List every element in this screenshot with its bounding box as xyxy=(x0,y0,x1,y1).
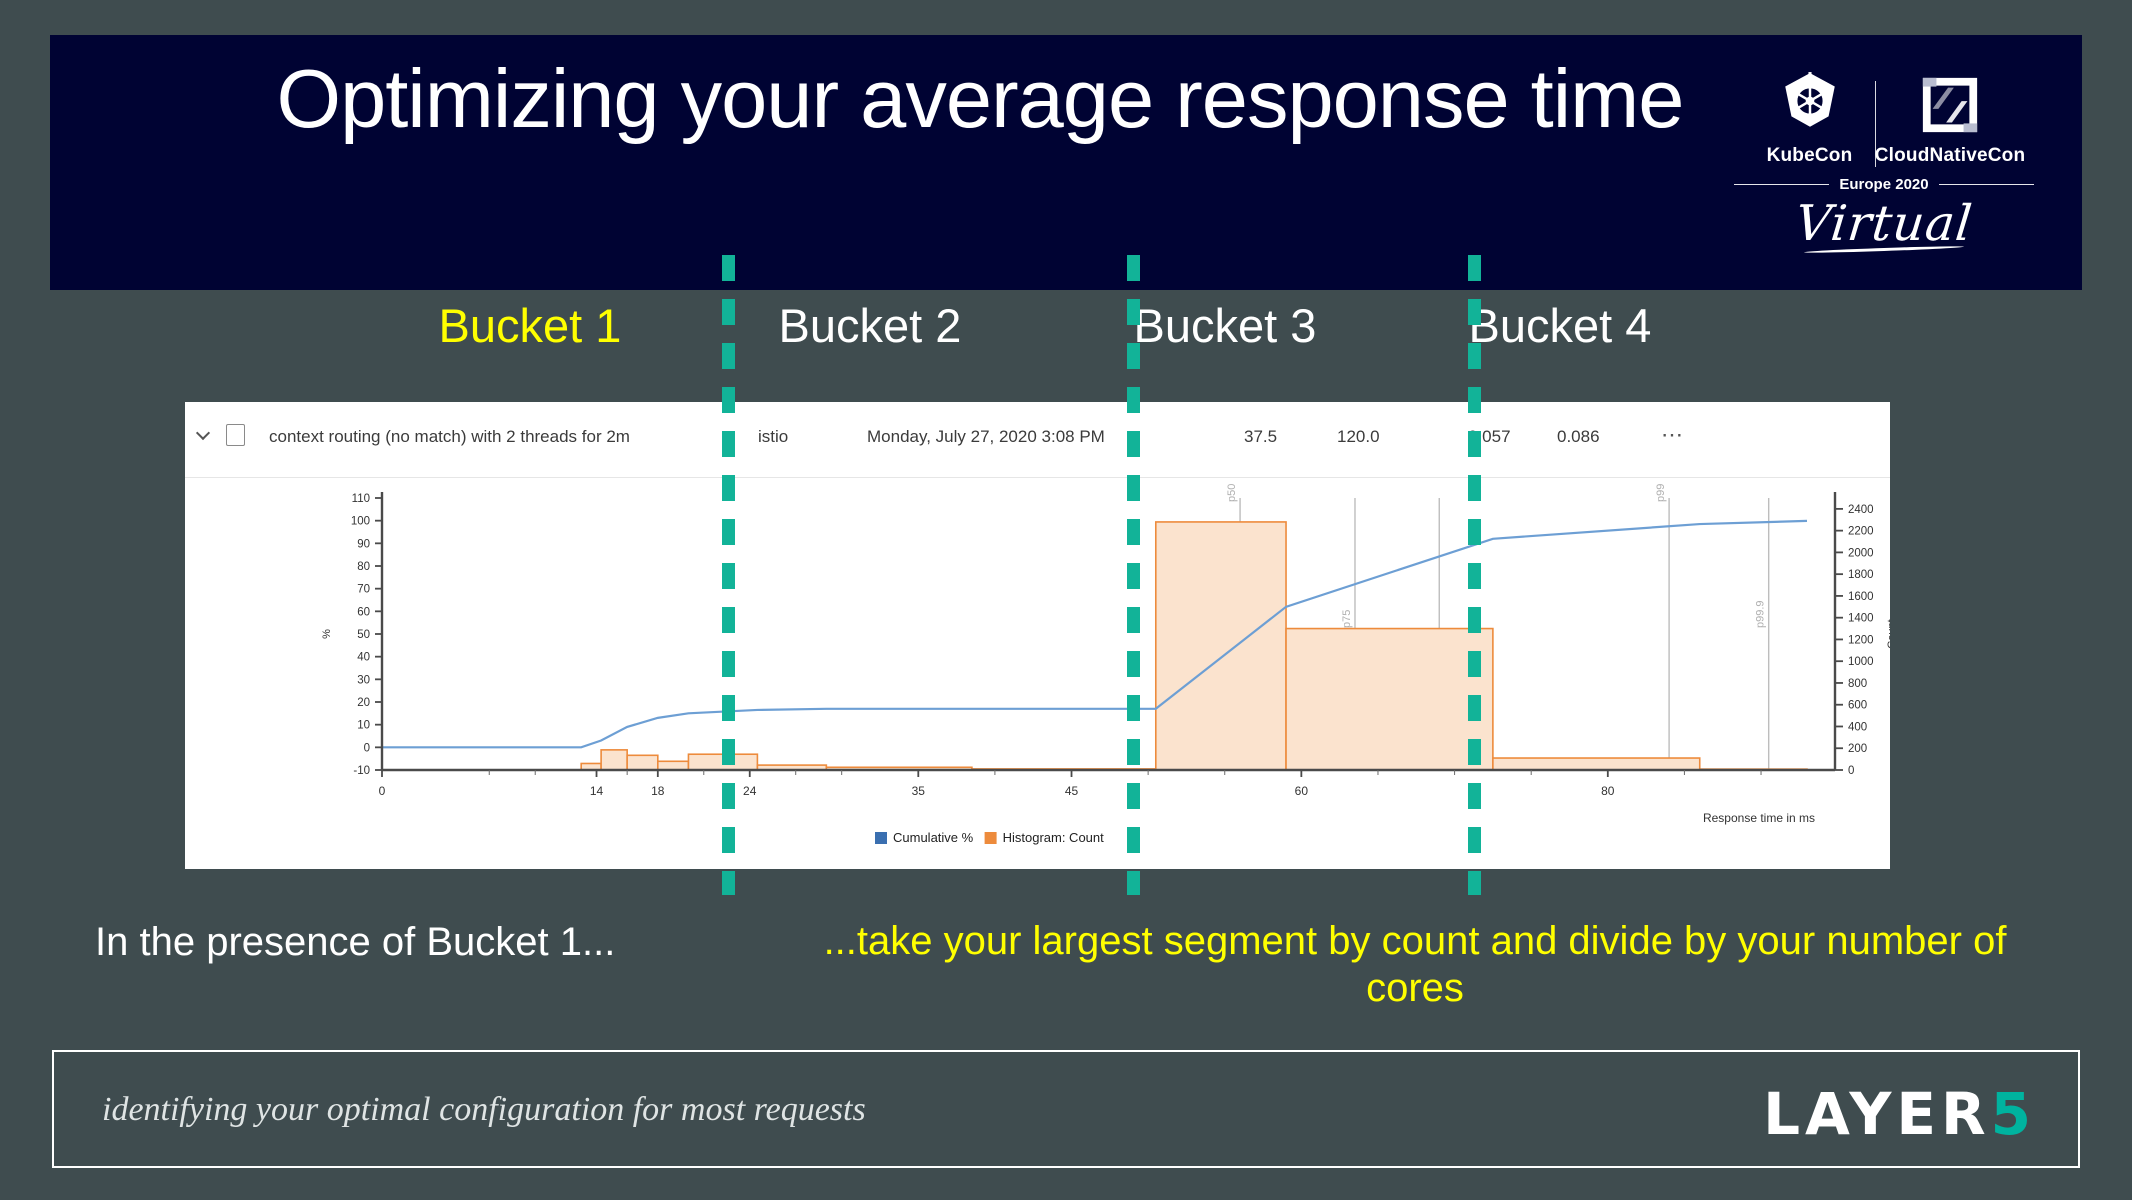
x-tick-label: 35 xyxy=(912,784,926,798)
percentile-label-p99: p99 xyxy=(1655,484,1667,502)
x-tick-label: 60 xyxy=(1295,784,1309,798)
y2-tick-label: 2000 xyxy=(1848,547,1874,559)
caption-right: ...take your largest segment by count an… xyxy=(780,918,2050,1012)
bucket-label-2: Bucket 2 xyxy=(690,298,1050,353)
y-tick-label: 40 xyxy=(357,652,370,664)
legend-swatch xyxy=(875,832,887,844)
y-tick-label: -10 xyxy=(353,765,370,777)
y2-tick-label: 800 xyxy=(1848,678,1867,690)
layer5-digit: 5 xyxy=(1991,1080,2036,1148)
bucket-label-row: Bucket 1 Bucket 2 Bucket 3 Bucket 4 xyxy=(50,298,2082,376)
bucket-divider-1 xyxy=(722,255,735,895)
legend-label: Histogram: Count xyxy=(1003,830,1105,845)
y2-tick-label: 2400 xyxy=(1848,504,1874,516)
metric-value-2: 120.0 xyxy=(1337,427,1380,447)
bucket-label-1: Bucket 1 xyxy=(375,298,685,353)
histogram-bar xyxy=(658,761,689,770)
y-tick-label: 0 xyxy=(364,742,370,754)
y2-tick-label: 200 xyxy=(1848,743,1867,755)
percentile-label-p75: p75 xyxy=(1341,610,1353,628)
kubecon-label: KubeCon xyxy=(1767,145,1853,167)
y-axis-label: % xyxy=(321,629,333,639)
y-tick-label: 60 xyxy=(357,606,370,618)
run-timestamp: Monday, July 27, 2020 3:08 PM xyxy=(867,427,1105,447)
layer5-logo: LAYER5 xyxy=(1763,1080,2036,1148)
x-tick-label: 45 xyxy=(1065,784,1079,798)
service-mesh-name: istio xyxy=(758,427,788,447)
kubecon-cloudnativecon-logo: KubeCon CloudNativeCon xyxy=(1734,57,2034,277)
x-axis-label: Response time in ms xyxy=(1703,811,1815,825)
chevron-down-icon[interactable] xyxy=(198,428,211,441)
y-tick-label: 90 xyxy=(357,538,370,550)
y2-tick-label: 0 xyxy=(1848,765,1854,777)
histogram-plot: p50p75p90p99p99.9-1001020304050607080901… xyxy=(185,478,1890,870)
benchmark-result-card: context routing (no match) with 2 thread… xyxy=(185,402,1890,869)
cncf-square-icon xyxy=(1919,74,1981,141)
ellipsis-icon[interactable]: ⋯ xyxy=(1661,422,1686,448)
y2-tick-label: 400 xyxy=(1848,721,1867,733)
bucket-label-3: Bucket 3 xyxy=(1060,298,1390,353)
kubecon-mark: KubeCon xyxy=(1752,70,1867,167)
metric-value-1: 37.5 xyxy=(1244,427,1277,447)
x-tick-label: 24 xyxy=(743,784,757,798)
y2-tick-label: 1600 xyxy=(1848,591,1874,603)
histogram-bars xyxy=(581,522,1807,770)
y-tick-label: 10 xyxy=(357,720,370,732)
histogram-bar xyxy=(1156,522,1286,770)
edition-label: Europe 2020 xyxy=(1839,176,1928,193)
layer5-word: LAYER xyxy=(1763,1080,1991,1148)
y-tick-label: 50 xyxy=(357,629,370,641)
caption-left: In the presence of Bucket 1... xyxy=(95,920,755,965)
histogram-bar xyxy=(601,750,627,770)
slide-root: Optimizing your average response time xyxy=(0,0,2132,1200)
conference-edition: Europe 2020 xyxy=(1734,176,2034,193)
histogram-bar xyxy=(1493,758,1700,770)
cloudnativecon-mark: CloudNativeCon xyxy=(1884,74,2016,167)
x-tick-label: 18 xyxy=(651,784,665,798)
histogram-svg: p50p75p90p99p99.9-1001020304050607080901… xyxy=(185,478,1890,870)
legend-swatch xyxy=(985,832,997,844)
y2-tick-label: 600 xyxy=(1848,700,1867,712)
test-name: context routing (no match) with 2 thread… xyxy=(269,427,630,447)
logo-divider xyxy=(1875,81,1876,167)
y-tick-label: 100 xyxy=(351,516,370,528)
bucket-label-4: Bucket 4 xyxy=(1395,298,1725,353)
y2-tick-label: 2200 xyxy=(1848,526,1874,538)
title-bar: Optimizing your average response time xyxy=(50,35,2082,290)
edition-rule-right xyxy=(1939,184,2034,185)
y2-axis-label: Count xyxy=(1886,619,1890,648)
virtual-wordmark: Virtual xyxy=(1731,195,2037,252)
y2-tick-label: 1000 xyxy=(1848,656,1874,668)
cumulative-line xyxy=(382,521,1807,747)
page-title: Optimizing your average response time xyxy=(230,57,1730,142)
x-tick-label: 14 xyxy=(590,784,604,798)
y-tick-label: 70 xyxy=(357,584,370,596)
histogram-bar xyxy=(627,755,658,770)
row-checkbox[interactable] xyxy=(226,424,245,446)
y-tick-label: 20 xyxy=(357,697,370,709)
result-row-header: context routing (no match) with 2 thread… xyxy=(185,402,1890,478)
percentile-label-p99.9: p99.9 xyxy=(1755,600,1767,628)
footer-caption: identifying your optimal configuration f… xyxy=(102,1091,866,1129)
bucket-divider-2 xyxy=(1127,255,1140,895)
bucket-divider-3 xyxy=(1468,255,1481,895)
edition-rule-left xyxy=(1734,184,1829,185)
cloudnativecon-label: CloudNativeCon xyxy=(1875,145,2026,167)
histogram-bar xyxy=(1286,629,1493,770)
y2-tick-label: 1200 xyxy=(1848,634,1874,646)
legend-label: Cumulative % xyxy=(893,830,974,845)
kubernetes-helm-icon xyxy=(1777,70,1843,141)
percentile-label-p50: p50 xyxy=(1226,484,1238,502)
y-tick-label: 110 xyxy=(352,493,370,505)
metric-value-4: 0.086 xyxy=(1557,427,1600,447)
x-tick-label: 0 xyxy=(379,784,386,798)
y2-tick-label: 1400 xyxy=(1848,613,1874,625)
y-tick-label: 30 xyxy=(357,674,370,686)
x-tick-label: 80 xyxy=(1601,784,1615,798)
footer-bar: identifying your optimal configuration f… xyxy=(52,1050,2080,1168)
y-tick-label: 80 xyxy=(357,561,370,573)
y2-tick-label: 1800 xyxy=(1848,569,1874,581)
